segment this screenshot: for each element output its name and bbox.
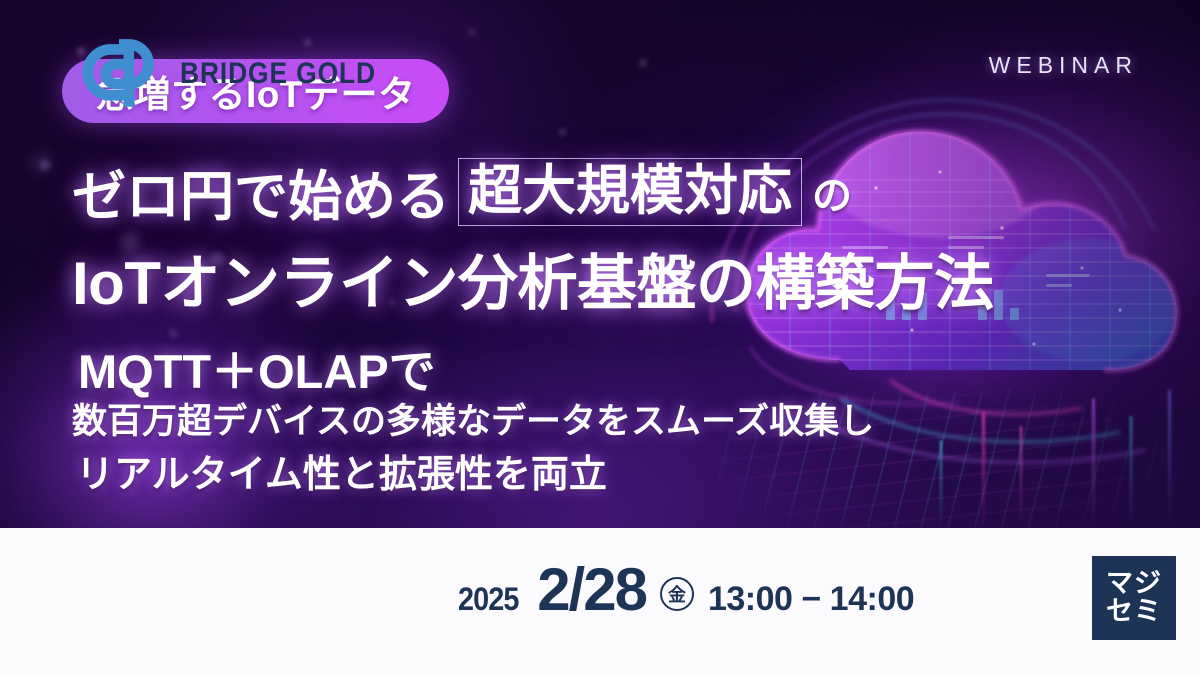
subtitle-line-2: 数百万超デバイスの多様なデータをスムーズ収集し [72, 393, 874, 444]
provider-logo-line-1: マジ [1106, 570, 1162, 598]
event-year: 2025 [458, 581, 518, 618]
webinar-banner: WEBINAR 急増するIoTデータ ゼロ円で始める 超大規模対応 の IoTオ… [0, 0, 1200, 675]
title-line-1-prefix: ゼロ円で始める [72, 152, 450, 231]
bridge-gold-logo-icon [78, 33, 160, 115]
title-line-1-suffix: の [812, 163, 852, 221]
subtitle-line-3: リアルタイム性と拡張性を両立 [76, 443, 607, 498]
event-time-range: 13:00 − 14:00 [708, 580, 914, 619]
provider-logo: マジ セミ [1092, 556, 1176, 640]
webinar-kicker: WEBINAR [989, 52, 1138, 79]
event-weekday-badge: 金 [660, 577, 694, 611]
event-datetime: 2025 2/28 金 13:00 − 14:00 [458, 560, 914, 620]
brand-lockup: BRIDGE GOLD [78, 33, 403, 115]
title-line-1: ゼロ円で始める 超大規模対応 の [72, 152, 852, 231]
subtitle-line-1: MQTT＋OLAPで [78, 333, 436, 402]
event-month-day: 2/28 [537, 560, 646, 620]
provider-logo-line-2: セミ [1106, 598, 1162, 626]
title-highlight-box: 超大規模対応 [458, 158, 802, 226]
title-line-2: IoTオンライン分析基盤の構築方法 [72, 235, 993, 322]
brand-name: BRIDGE GOLD [180, 57, 376, 91]
